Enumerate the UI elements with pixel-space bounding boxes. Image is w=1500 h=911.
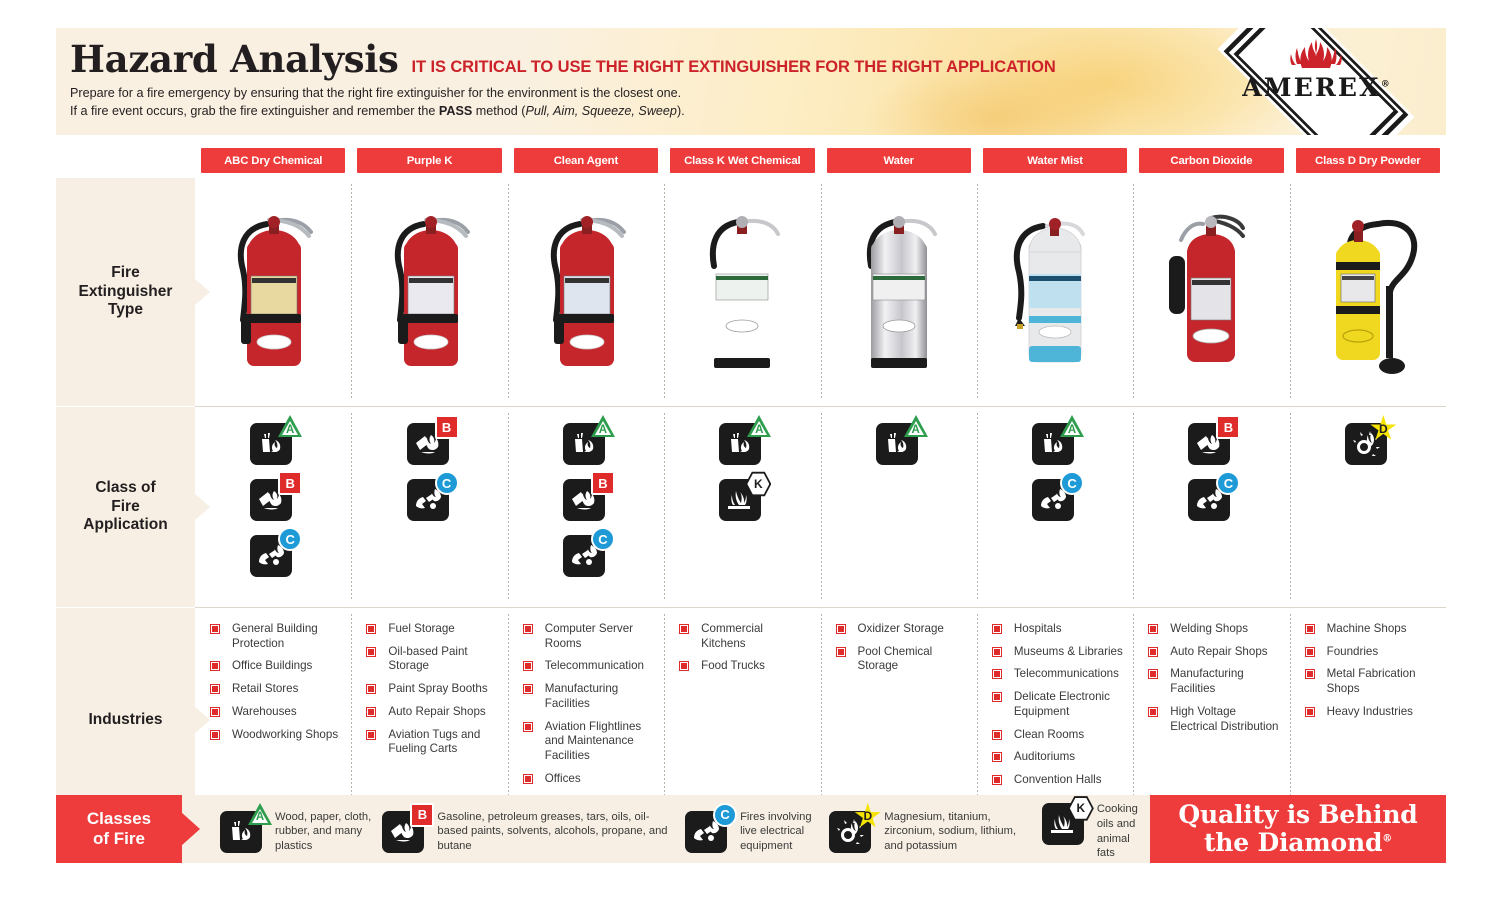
class-b-badge: B	[1216, 415, 1240, 439]
class-cell-water-mist: A C	[977, 407, 1133, 607]
industry-list: General Building ProtectionOffice Buildi…	[211, 622, 341, 742]
bullet-icon	[211, 662, 219, 670]
pass-expansion: Pull, Aim, Squeeze, Sweep	[525, 104, 676, 118]
legend-item-class-a: A Wood, paper, cloth, rubber, and many p…	[220, 805, 376, 854]
class-cell-clean-agent: A B C	[508, 407, 664, 607]
bullet-icon	[211, 685, 219, 693]
list-item: Auditoriums	[993, 750, 1123, 765]
list-item: Oil-based Paint Storage	[367, 645, 497, 674]
list-item: Office Buildings	[211, 659, 341, 674]
bullet-icon	[993, 776, 1001, 784]
class-c-icon: C	[563, 531, 609, 577]
hazard-analysis-infographic: Hazard Analysis IT IS CRITICAL TO USE TH…	[0, 0, 1500, 911]
row-label-line-2: Extinguisher	[79, 283, 173, 302]
bullet-icon	[1149, 670, 1157, 678]
list-item: General Building Protection	[211, 622, 341, 651]
bullet-icon	[993, 625, 1001, 633]
class-a-badge: A	[1060, 415, 1084, 439]
bullet-icon	[367, 685, 375, 693]
list-item: Metal Fabrication Shops	[1306, 667, 1436, 696]
legend-description: Fires involving live electrical equipmen…	[740, 805, 823, 854]
class-a-badge: A	[904, 415, 928, 439]
list-item: Clean Rooms	[993, 728, 1123, 743]
class-c-icon: C	[407, 475, 453, 521]
row-fire-extinguisher-type: Fire Extinguisher Type	[56, 178, 1446, 406]
legend-description: Gasoline, petroleum greases, tars, oils,…	[437, 805, 679, 854]
bullet-icon	[993, 648, 1001, 656]
row-label-line-1: Fire	[79, 264, 173, 283]
legend-label-line-1: Classes	[87, 809, 151, 829]
bullet-icon	[1306, 648, 1314, 656]
list-item: Aviation Flightlines and Maintenance Fac…	[524, 720, 654, 764]
extinguisher-cell-abc-dry-chemical	[195, 178, 351, 406]
list-item: Oxidizer Storage	[837, 622, 967, 637]
class-cell-water: A	[821, 407, 977, 607]
class-b-icon: B	[407, 419, 453, 465]
class-a-icon: A	[876, 419, 922, 465]
class-c-icon: C	[250, 531, 296, 577]
list-item: Warehouses	[211, 705, 341, 720]
page-subtitle: IT IS CRITICAL TO USE THE RIGHT EXTINGUI…	[412, 58, 1056, 77]
list-item: Heavy Industries	[1306, 705, 1436, 720]
extinguisher-illustration	[526, 196, 646, 396]
class-a-icon: A	[563, 419, 609, 465]
class-b-badge: B	[435, 415, 459, 439]
list-item: Auto Repair Shops	[367, 705, 497, 720]
bullet-icon	[680, 625, 688, 633]
class-b-icon: B	[382, 807, 428, 853]
bullet-icon	[524, 775, 532, 783]
class-a-badge: A	[747, 415, 771, 439]
bullet-icon	[211, 731, 219, 739]
class-b-icon: B	[563, 475, 609, 521]
legend-item-class-b: B Gasoline, petroleum greases, tars, oil…	[382, 805, 679, 854]
industry-list: Machine ShopsFoundriesMetal Fabrication …	[1306, 622, 1436, 720]
extinguisher-cell-water	[821, 178, 977, 406]
row-label-line-1: Class of	[83, 479, 167, 498]
amerex-logo: AMEREX®	[1200, 28, 1432, 135]
class-c-badge: C	[1216, 471, 1240, 495]
legend-item-class-c: C Fires involving live electrical equipm…	[685, 805, 823, 854]
extinguisher-illustration	[213, 196, 333, 396]
bullet-icon	[993, 670, 1001, 678]
list-item: Food Trucks	[680, 659, 810, 674]
bullet-icon	[680, 662, 688, 670]
class-c-badge: C	[435, 471, 459, 495]
row-label-line-2: Fire	[83, 498, 167, 517]
header-banner: Hazard Analysis IT IS CRITICAL TO USE TH…	[56, 28, 1446, 135]
legend-description: Cooking oils and animal fats	[1097, 797, 1150, 860]
column-header-purple-k[interactable]: Purple K	[357, 148, 501, 173]
quality-line-2: the Diamond®	[1178, 829, 1417, 858]
bullet-icon	[211, 708, 219, 716]
list-item: Paint Spray Booths	[367, 682, 497, 697]
industry-list: Fuel StorageOil-based Paint StoragePaint…	[367, 622, 497, 757]
row-label-line-3: Application	[83, 516, 167, 535]
row-label-class-of-fire-application: Class of Fire Application	[56, 407, 195, 607]
list-item: Auto Repair Shops	[1149, 645, 1279, 660]
bullet-icon	[1306, 670, 1314, 678]
pass-acronym: PASS	[439, 104, 472, 118]
bullet-icon	[993, 753, 1001, 761]
class-c-icon: C	[1032, 475, 1078, 521]
bullet-icon	[1149, 708, 1157, 716]
bullet-icon	[524, 685, 532, 693]
class-d-icon: D	[1345, 419, 1391, 465]
class-d-badge: D	[1370, 415, 1397, 442]
extinguisher-illustration	[682, 196, 802, 396]
extinguisher-illustration	[370, 196, 490, 396]
class-c-badge: C	[591, 527, 615, 551]
class-c-icon: C	[685, 807, 731, 853]
class-a-badge: A	[278, 415, 302, 439]
legend-item-class-k: K Cooking oils and animal fats	[1042, 797, 1150, 860]
class-c-badge: C	[278, 527, 302, 551]
legend-item-class-d: D Magnesium, titanium, zirconium, sodium…	[829, 805, 1036, 854]
hazard-table: ABC Dry Chemical Purple K Clean Agent Cl…	[56, 148, 1446, 832]
quality-tagline: Quality is Behind the Diamond®	[1150, 795, 1446, 863]
legend-description: Magnesium, titanium, zirconium, sodium, …	[884, 805, 1036, 854]
bullet-icon	[1149, 625, 1157, 633]
class-cell-class-d-dry-powder: D	[1290, 407, 1446, 607]
bullet-icon	[367, 648, 375, 656]
list-item: Commercial Kitchens	[680, 622, 810, 651]
class-cell-carbon-dioxide: B C	[1133, 407, 1289, 607]
bullet-icon	[367, 625, 375, 633]
legend-label-line-2: of Fire	[87, 829, 151, 849]
list-item: Hospitals	[993, 622, 1123, 637]
class-c-icon: C	[1188, 475, 1234, 521]
bullet-icon	[1306, 708, 1314, 716]
bullet-icon	[524, 625, 532, 633]
list-item: Telecommunication	[524, 659, 654, 674]
legend-description: Wood, paper, cloth, rubber, and many pla…	[275, 805, 376, 854]
bullet-icon	[837, 648, 845, 656]
list-item: Foundries	[1306, 645, 1436, 660]
list-item: Computer Server Rooms	[524, 622, 654, 651]
class-c-badge: C	[713, 803, 737, 827]
class-b-icon: B	[1188, 419, 1234, 465]
bullet-icon	[1306, 625, 1314, 633]
row-class-of-fire-application: Class of Fire Application A B C	[56, 407, 1446, 607]
class-b-badge: B	[410, 803, 434, 827]
extinguisher-cell-clean-agent	[508, 178, 664, 406]
class-b-badge: B	[278, 471, 302, 495]
bullet-icon	[367, 708, 375, 716]
column-header-class-k-wet-chemical[interactable]: Class K Wet Chemical	[670, 148, 814, 173]
class-d-icon: D	[829, 807, 875, 853]
class-cell-purple-k: B C	[351, 407, 507, 607]
column-header-water[interactable]: Water	[827, 148, 971, 173]
class-a-badge: A	[248, 803, 272, 827]
legend-label-arrow-icon	[181, 812, 200, 846]
column-header-class-d-dry-powder[interactable]: Class D Dry Powder	[1296, 148, 1440, 173]
list-item: Offices	[524, 772, 654, 787]
list-item: Machine Shops	[1306, 622, 1436, 637]
class-cell-class-k-wet-chemical: A K	[664, 407, 820, 607]
amerex-wordmark: AMEREX®	[1242, 73, 1390, 102]
industry-list: Welding ShopsAuto Repair ShopsManufactur…	[1149, 622, 1279, 734]
bullet-icon	[524, 723, 532, 731]
list-item: Delicate Electronic Equipment	[993, 690, 1123, 719]
bullet-icon	[993, 731, 1001, 739]
industry-list: Computer Server RoomsTelecommunicationMa…	[524, 622, 654, 786]
desc2-c: ).	[677, 104, 685, 118]
extinguisher-cell-carbon-dioxide	[1133, 178, 1289, 406]
bullet-icon	[1149, 648, 1157, 656]
class-k-badge: K	[745, 471, 771, 497]
class-b-badge: B	[591, 471, 615, 495]
row-label-line-3: Type	[79, 301, 173, 320]
desc2-b: method (	[472, 104, 525, 118]
bullet-icon	[837, 625, 845, 633]
extinguisher-cell-purple-k	[351, 178, 507, 406]
industry-list: HospitalsMuseums & LibrariesTelecommunic…	[993, 622, 1123, 810]
column-header-row: ABC Dry Chemical Purple K Clean Agent Cl…	[56, 148, 1446, 178]
column-header-carbon-dioxide[interactable]: Carbon Dioxide	[1139, 148, 1283, 173]
list-item: Convention Halls	[993, 773, 1123, 788]
row-label-fire-extinguisher-type: Fire Extinguisher Type	[56, 178, 195, 406]
extinguisher-cell-water-mist	[977, 178, 1133, 406]
list-item: Manufacturing Facilities	[524, 682, 654, 711]
list-item: Manufacturing Facilities	[1149, 667, 1279, 696]
bullet-icon	[211, 625, 219, 633]
class-k-icon: K	[1042, 799, 1088, 845]
extinguisher-illustration	[1308, 196, 1428, 396]
quality-line-1: Quality is Behind	[1178, 801, 1417, 830]
list-item: High Voltage Electrical Distribution	[1149, 705, 1279, 734]
column-header-abc-dry-chemical[interactable]: ABC Dry Chemical	[201, 148, 345, 173]
bullet-icon	[367, 731, 375, 739]
industry-list: Oxidizer StoragePool Chemical Storage	[837, 622, 967, 674]
legend-label: Classes of Fire	[56, 795, 182, 863]
list-item: Retail Stores	[211, 682, 341, 697]
class-a-badge: A	[591, 415, 615, 439]
extinguisher-illustration	[1151, 196, 1271, 396]
list-item: Welding Shops	[1149, 622, 1279, 637]
column-header-water-mist[interactable]: Water Mist	[983, 148, 1127, 173]
classes-of-fire-legend: Classes of Fire A Wood, paper, cloth, ru…	[56, 795, 1446, 863]
class-k-icon: K	[719, 475, 765, 521]
page-title: Hazard Analysis	[70, 41, 399, 78]
column-header-clean-agent[interactable]: Clean Agent	[514, 148, 658, 173]
list-item: Woodworking Shops	[211, 728, 341, 743]
list-item: Fuel Storage	[367, 622, 497, 637]
industry-list: Commercial KitchensFood Trucks	[680, 622, 810, 674]
list-item: Telecommunications	[993, 667, 1123, 682]
class-a-icon: A	[719, 419, 765, 465]
class-k-badge: K	[1068, 795, 1094, 821]
bullet-icon	[993, 693, 1001, 701]
bullet-icon	[524, 662, 532, 670]
class-b-icon: B	[250, 475, 296, 521]
list-item: Museums & Libraries	[993, 645, 1123, 660]
extinguisher-illustration	[995, 196, 1115, 396]
desc2-a: If a fire event occurs, grab the fire ex…	[70, 104, 439, 118]
class-a-icon: A	[1032, 419, 1078, 465]
extinguisher-cell-class-d-dry-powder	[1290, 178, 1446, 406]
class-a-icon: A	[220, 807, 266, 853]
extinguisher-illustration	[839, 196, 959, 396]
class-a-icon: A	[250, 419, 296, 465]
class-d-badge: D	[854, 803, 881, 830]
row-label-text: Industries	[88, 711, 162, 730]
list-item: Aviation Tugs and Fueling Carts	[367, 728, 497, 757]
class-cell-abc-dry-chemical: A B C	[195, 407, 351, 607]
extinguisher-cell-class-k-wet-chemical	[664, 178, 820, 406]
class-c-badge: C	[1060, 471, 1084, 495]
list-item: Pool Chemical Storage	[837, 645, 967, 674]
